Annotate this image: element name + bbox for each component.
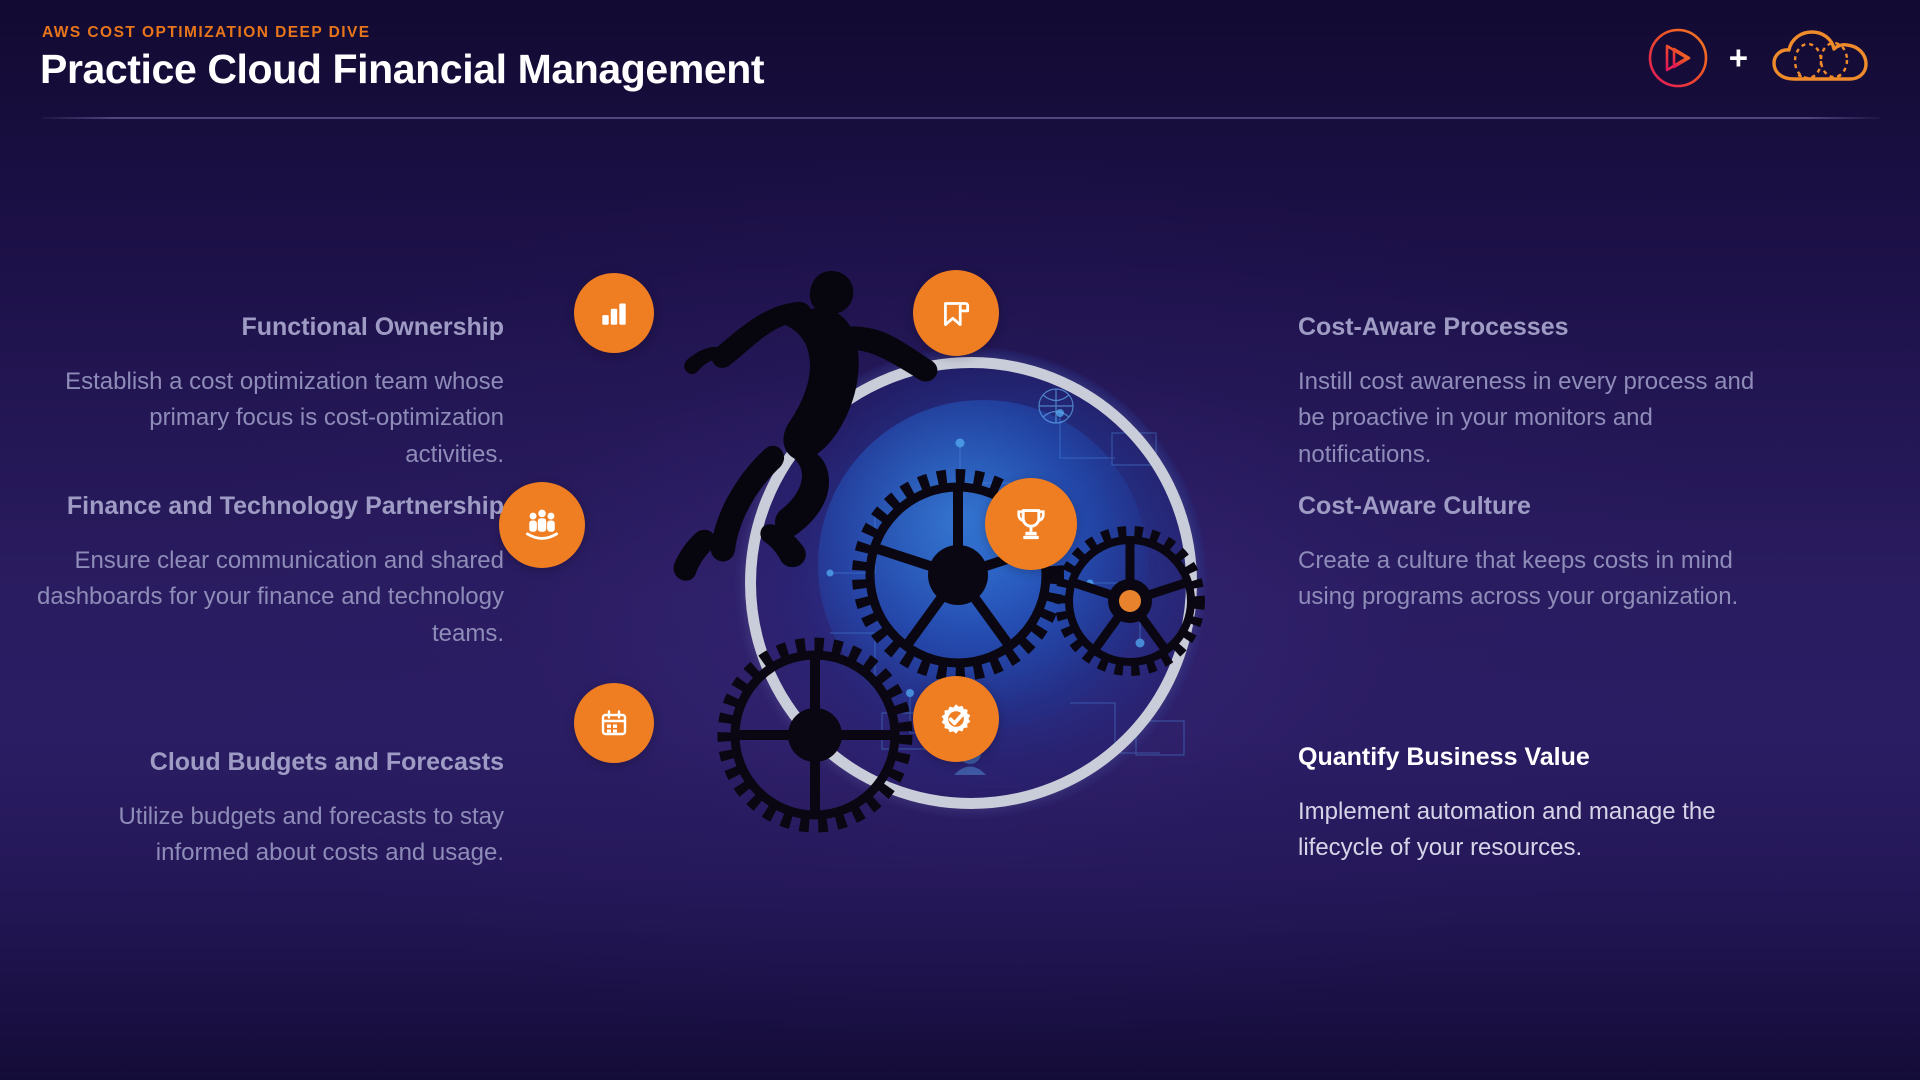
gear-check-icon[interactable] [913,676,999,762]
pillar-title: Functional Ownership [60,313,504,342]
logo-group: + [1647,22,1878,94]
page-title: Practice Cloud Financial Management [40,46,764,93]
pillar-body: Create a culture that keeps costs in min… [1298,543,1778,616]
pillar-title: Cloud Budgets and Forecasts [60,748,504,777]
calendar-icon-glyph [598,707,630,739]
trophy-icon-glyph [1012,505,1050,543]
bar-chart-icon-glyph [597,296,631,330]
gear-check-icon-glyph [937,700,975,738]
pillar-title: Quantify Business Value [1298,743,1778,772]
pillar-body: Implement automation and manage the life… [1298,794,1778,867]
pillar-functional-ownership[interactable]: Functional Ownership Establish a cost op… [60,313,504,473]
pillar-cost-aware-culture[interactable]: Cost-Aware Culture Create a culture that… [1298,492,1778,616]
cloud-financial-management-illustration [660,283,1282,883]
cloud-outline-logo [1768,27,1878,89]
pillar-finance-and-technology-partnership[interactable]: Finance and Technology Partnership Ensur… [0,492,504,652]
header-divider [42,117,1880,119]
plus-separator: + [1729,41,1748,74]
pillar-title: Finance and Technology Partnership [0,492,504,521]
slide: AWS COST OPTIMIZATION DEEP DIVE Practice… [0,0,1920,1080]
calendar-icon[interactable] [574,683,654,763]
people-group-icon[interactable] [499,482,585,568]
bar-chart-icon[interactable] [574,273,654,353]
pillar-title: Cost-Aware Culture [1298,492,1778,521]
gear-right [1063,534,1197,668]
pillar-body: Utilize budgets and forecasts to stay in… [60,799,504,872]
slide-header: AWS COST OPTIMIZATION DEEP DIVE Practice… [0,0,1920,145]
pillar-title: Cost-Aware Processes [1298,313,1778,342]
pillar-body: Establish a cost optimization team whose… [60,364,504,474]
pillar-quantify-business-value[interactable]: Quantify Business Value Implement automa… [1298,743,1778,867]
pillar-cost-aware-processes[interactable]: Cost-Aware Processes Instill cost awaren… [1298,313,1778,473]
pillar-body: Ensure clear communication and shared da… [0,543,504,653]
play-triangle-logo [1647,27,1709,89]
people-group-icon-glyph [523,506,561,544]
running-person-silhouette [654,255,994,675]
eyebrow-label: AWS COST OPTIMIZATION DEEP DIVE [42,24,371,42]
pillar-cloud-budgets-and-forecasts[interactable]: Cloud Budgets and Forecasts Utilize budg… [60,748,504,872]
pillar-body: Instill cost awareness in every process … [1298,364,1778,474]
trophy-icon[interactable] [985,478,1077,570]
